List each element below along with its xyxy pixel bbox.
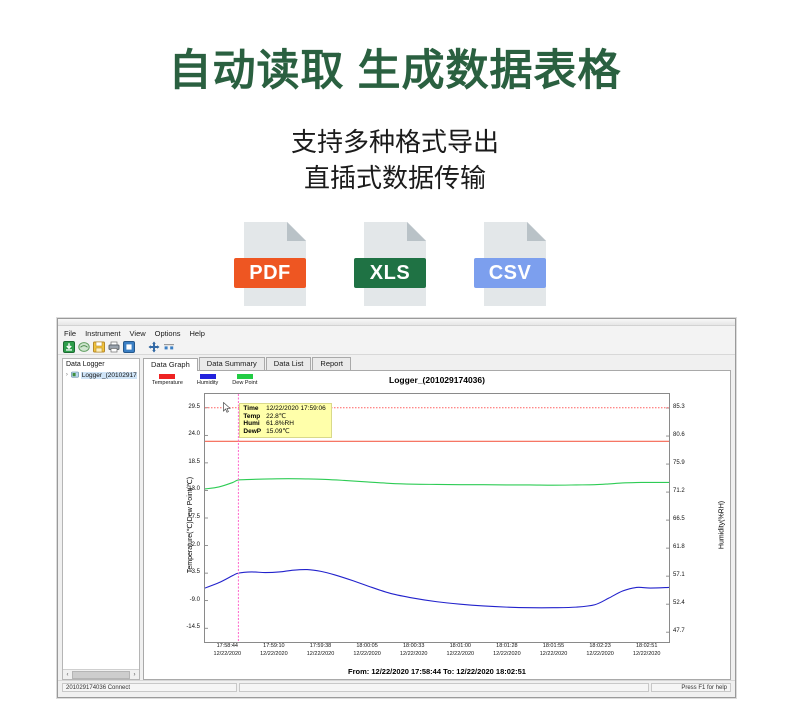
pdf-badge: PDF <box>234 258 306 288</box>
chart-range-text: From: 12/22/2020 17:58:44 To: 12/22/2020… <box>144 667 730 676</box>
menu-item-options[interactable]: Options <box>155 329 181 338</box>
tooltip-value: 61.8%RH <box>266 420 328 428</box>
data-graph-chart: Temperature Humidity Dew Point Logger_(2… <box>143 371 731 680</box>
window-titlebar <box>58 319 735 326</box>
status-help-hint: Press F1 for help <box>651 683 731 692</box>
y-axis-right-tick-label: 80.6 <box>673 432 685 438</box>
data-logger-application-window: File Instrument View Options Help <box>57 318 736 698</box>
x-tick-time: 18:02:23 <box>586 643 614 651</box>
tooltip-key: Time <box>243 405 266 413</box>
x-tick-time: 17:59:38 <box>307 643 335 651</box>
tooltip-value: 12/22/2020 17:59:06 <box>266 405 328 413</box>
move-cursor-icon[interactable] <box>148 341 160 353</box>
tooltip-value: 22.8℃ <box>266 413 328 421</box>
y-axis-right-tick-label: 52.4 <box>673 600 685 606</box>
tab-data-list[interactable]: Data List <box>266 357 312 370</box>
y-axis-left-tick-label: 18.5 <box>188 459 200 465</box>
content-pane: Data Graph Data Summary Data List Report… <box>143 358 731 680</box>
toolbar <box>58 339 735 355</box>
tooltip-row-temp: Temp 22.8℃ <box>243 413 327 421</box>
tooltip-row-humi: Humi 61.8%RH <box>243 420 327 428</box>
y-axis-right-tick-label: 61.8 <box>673 544 685 550</box>
chart-title: Logger_(201029174036) <box>144 375 730 385</box>
promo-title: 自动读取 生成数据表格 <box>0 36 790 98</box>
file-fold-shape <box>407 222 426 241</box>
x-axis-tick-label: 18:02:5112/22/2020 <box>633 643 661 658</box>
x-axis-tick-label: 17:59:1012/22/2020 <box>260 643 288 658</box>
promo-banner: 自动读取 生成数据表格 支持多种格式导出 直插式数据传输 PDF XLS CSV <box>0 0 790 318</box>
status-middle-cell <box>239 683 649 692</box>
tab-strip: Data Graph Data Summary Data List Report <box>143 358 731 371</box>
tooltip-key: Temp <box>243 413 266 421</box>
x-tick-date: 12/22/2020 <box>214 651 242 659</box>
save-icon[interactable] <box>93 341 105 353</box>
menu-item-help[interactable]: Help <box>190 329 205 338</box>
tooltip-value: 15.09℃ <box>266 428 328 436</box>
y-axis-left-tick-label: 2.0 <box>192 542 200 548</box>
x-tick-date: 12/22/2020 <box>307 651 335 659</box>
x-tick-date: 12/22/2020 <box>633 651 661 659</box>
y-axis-left-tick-label: 13.0 <box>188 486 200 492</box>
tooltip-row-dewp: DewP 15.09℃ <box>243 428 327 436</box>
tree-header: Data Logger <box>63 359 139 370</box>
status-bar: 201029174036 Connect Press F1 for help <box>58 680 735 694</box>
tooltip-key: Humi <box>243 420 266 428</box>
status-connection-text: 201029174036 Connect <box>62 683 237 692</box>
x-axis-tick-label: 18:01:0012/22/2020 <box>447 643 475 658</box>
mouse-cursor-icon <box>223 402 231 412</box>
download-icon[interactable] <box>63 341 75 353</box>
y-axis-right-tick-label: 66.5 <box>673 516 685 522</box>
y-axis-left-tick-label: 7.5 <box>192 514 200 520</box>
tooltip-key: DewP <box>243 428 266 436</box>
stop-icon[interactable] <box>123 341 135 353</box>
y-axis-left-tick-label: -9.0 <box>190 597 200 603</box>
xls-file-icon: XLS <box>364 222 426 306</box>
x-tick-time: 18:01:55 <box>540 643 568 651</box>
y-axis-left-tick-label: -14.5 <box>186 624 200 630</box>
y-axis-left-ticks: 29.524.018.513.07.52.0-3.5-9.0-14.5 <box>168 393 203 643</box>
x-tick-date: 12/22/2020 <box>353 651 381 659</box>
chevron-right-icon[interactable]: › <box>65 372 69 378</box>
pdf-file-icon: PDF <box>244 222 306 306</box>
tooltip-row-time: Time 12/22/2020 17:59:06 <box>243 405 327 413</box>
tree-horizontal-scrollbar[interactable]: ‹ › <box>63 669 139 679</box>
tree-item-logger[interactable]: › Logger_(201029174036) <box>63 370 139 380</box>
x-tick-date: 12/22/2020 <box>447 651 475 659</box>
x-tick-time: 18:02:51 <box>633 643 661 651</box>
x-axis-tick-label: 18:01:5512/22/2020 <box>540 643 568 658</box>
y-axis-right-tick-label: 85.3 <box>673 404 685 410</box>
x-tick-time: 17:59:10 <box>260 643 288 651</box>
x-axis-tick-label: 18:02:2312/22/2020 <box>586 643 614 658</box>
menu-bar: File Instrument View Options Help <box>58 326 735 339</box>
logger-device-icon <box>71 371 79 379</box>
csv-file-icon: CSV <box>484 222 546 306</box>
x-axis-tick-label: 18:00:3312/22/2020 <box>400 643 428 658</box>
print-icon[interactable] <box>108 341 120 353</box>
y-axis-left-tick-label: 24.0 <box>188 431 200 437</box>
y-axis-right-tick-label: 57.1 <box>673 572 685 578</box>
x-axis-ticks: 17:58:4412/22/202017:59:1012/22/202017:5… <box>204 643 670 661</box>
scrollbar-thumb[interactable] <box>72 671 130 679</box>
tab-data-graph[interactable]: Data Graph <box>143 358 198 371</box>
tree-empty-space <box>63 380 139 669</box>
x-axis-tick-label: 18:00:0512/22/2020 <box>353 643 381 658</box>
xls-badge: XLS <box>354 258 426 288</box>
x-tick-date: 12/22/2020 <box>260 651 288 659</box>
x-tick-time: 18:01:00 <box>447 643 475 651</box>
x-axis-tick-label: 18:01:2812/22/2020 <box>493 643 521 658</box>
data-logger-tree-panel: Data Logger › Logger_(201029174036) ‹ <box>62 358 140 680</box>
scroll-right-arrow-icon[interactable]: › <box>131 672 138 678</box>
tab-data-summary[interactable]: Data Summary <box>199 357 265 370</box>
y-axis-right-tick-label: 47.7 <box>673 628 685 634</box>
x-tick-time: 18:00:33 <box>400 643 428 651</box>
page-root: 自动读取 生成数据表格 支持多种格式导出 直插式数据传输 PDF XLS CSV <box>0 0 790 717</box>
x-tick-date: 12/22/2020 <box>586 651 614 659</box>
window-body: Data Logger › Logger_(201029174036) ‹ <box>58 355 735 680</box>
zoom-box-icon[interactable] <box>163 341 175 353</box>
promo-subtitle-2: 直插式数据传输 <box>0 158 790 195</box>
y-axis-right-label: Humidity(%RH) <box>718 501 725 549</box>
csv-badge: CSV <box>474 258 546 288</box>
tree-item-label: Logger_(201029174036) <box>81 372 137 379</box>
y-axis-left-tick-label: 29.5 <box>188 404 200 410</box>
menu-item-view[interactable]: View <box>130 329 146 338</box>
y-axis-right-tick-label: 71.2 <box>673 488 685 494</box>
menu-item-file[interactable]: File <box>64 329 76 338</box>
export-format-icons: PDF XLS CSV <box>0 222 790 308</box>
scroll-left-arrow-icon[interactable]: ‹ <box>64 672 71 678</box>
y-axis-right-ticks: 85.380.675.971.266.561.857.152.447.7 <box>670 393 710 643</box>
x-tick-date: 12/22/2020 <box>540 651 568 659</box>
x-tick-time: 17:58:44 <box>214 643 242 651</box>
tab-report[interactable]: Report <box>312 357 351 370</box>
x-axis-tick-label: 17:58:4412/22/2020 <box>214 643 242 658</box>
data-point-tooltip: Time 12/22/2020 17:59:06 Temp 22.8℃ Humi… <box>239 403 331 438</box>
shield-icon[interactable] <box>78 341 90 353</box>
promo-subtitle-1: 支持多种格式导出 <box>0 122 790 159</box>
y-axis-right-tick-label: 75.9 <box>673 460 685 466</box>
file-fold-shape <box>287 222 306 241</box>
x-tick-date: 12/22/2020 <box>400 651 428 659</box>
x-axis-tick-label: 17:59:3812/22/2020 <box>307 643 335 658</box>
menu-item-instrument[interactable]: Instrument <box>85 329 120 338</box>
x-tick-date: 12/22/2020 <box>493 651 521 659</box>
x-tick-time: 18:01:28 <box>493 643 521 651</box>
y-axis-left-tick-label: -3.5 <box>190 569 200 575</box>
x-tick-time: 18:00:05 <box>353 643 381 651</box>
